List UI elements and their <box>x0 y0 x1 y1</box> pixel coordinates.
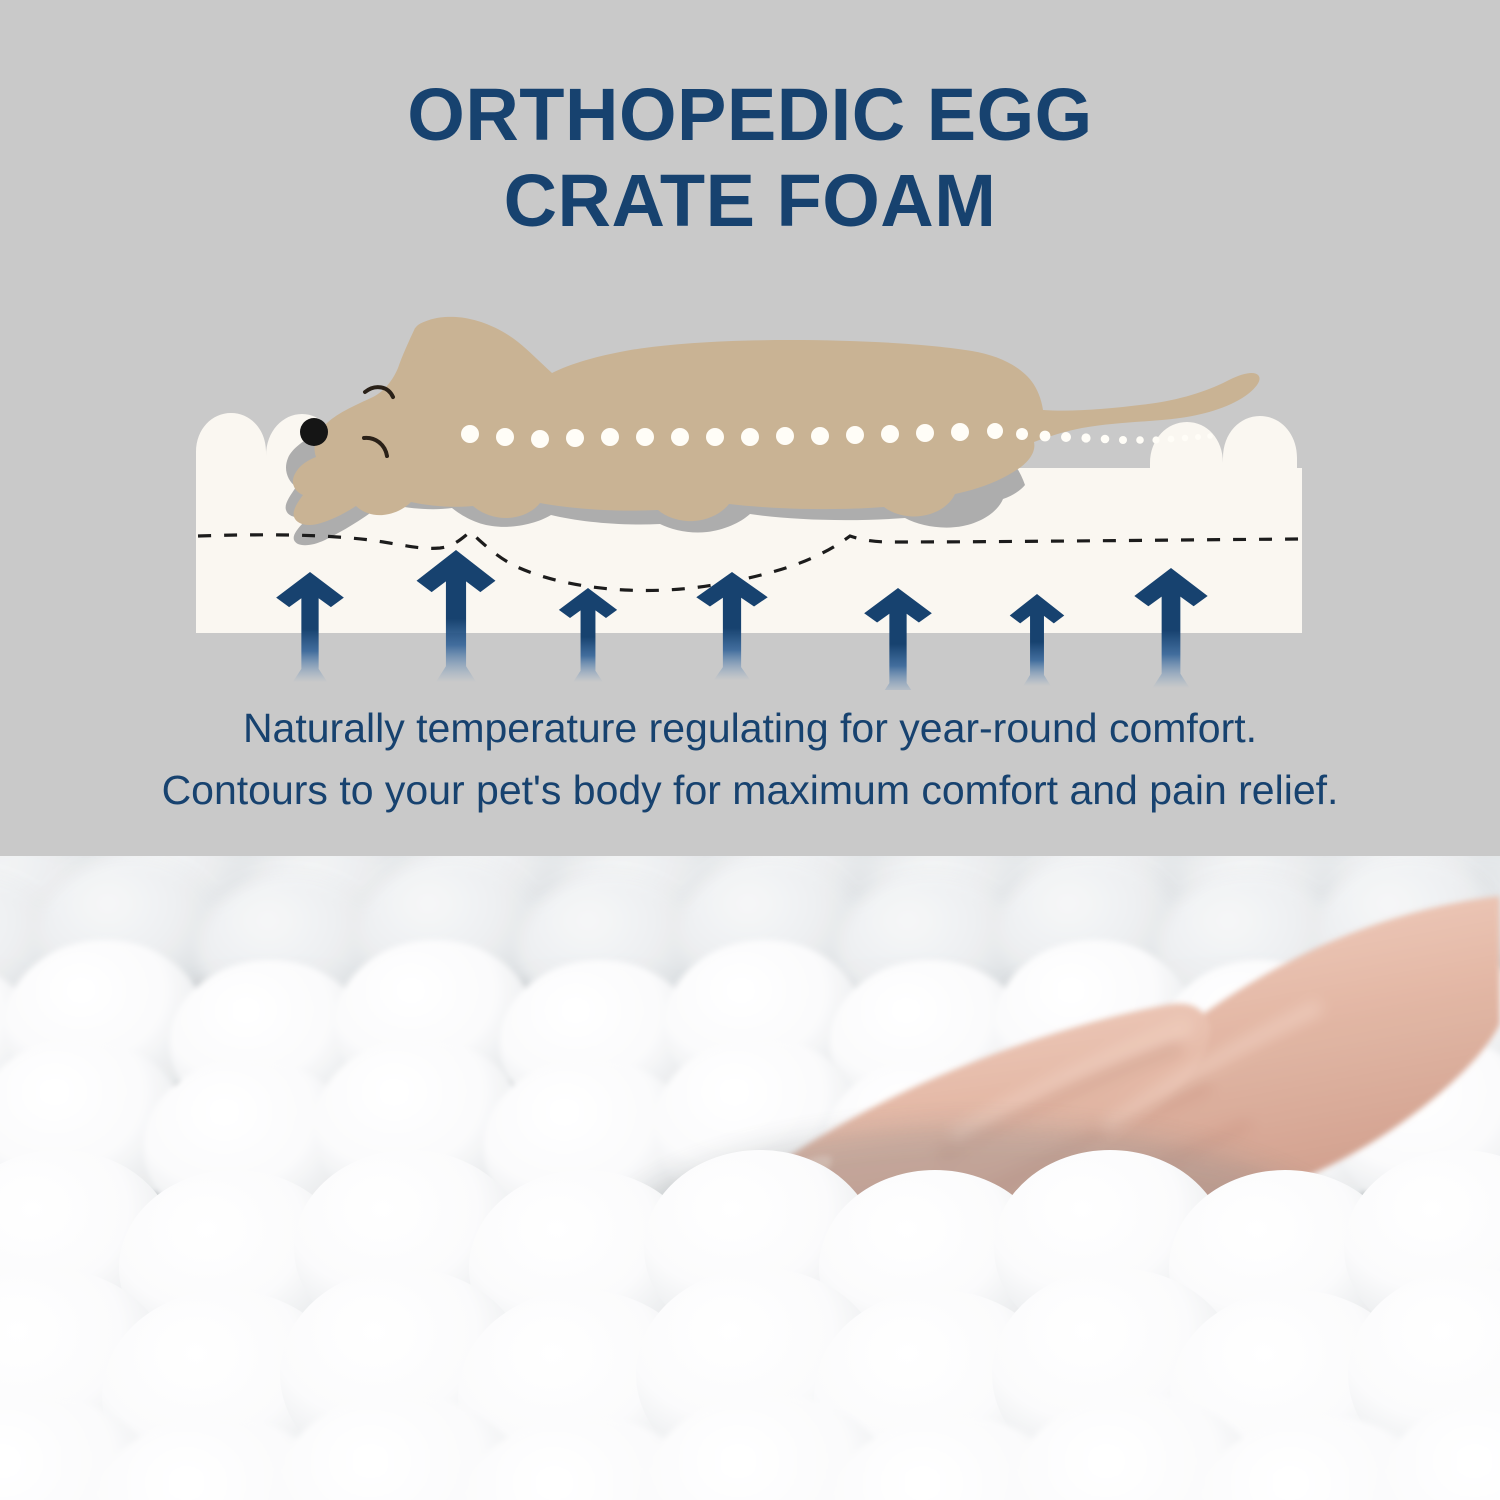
product-infographic: ORTHOPEDIC EGG CRATE FOAM <box>0 0 1500 1500</box>
foam-texture-photo <box>0 856 1500 1500</box>
headline-line-2: CRATE FOAM <box>0 158 1500 244</box>
headline-line-1: ORTHOPEDIC EGG <box>0 72 1500 158</box>
dog-nose-dot <box>300 418 328 446</box>
page-title: ORTHOPEDIC EGG CRATE FOAM <box>0 72 1500 244</box>
feature-caption: Naturally temperature regulating for yea… <box>0 697 1500 821</box>
info-panel: ORTHOPEDIC EGG CRATE FOAM <box>0 0 1500 856</box>
caption-line-2: Contours to your pet's body for maximum … <box>0 759 1500 821</box>
caption-line-1: Naturally temperature regulating for yea… <box>0 697 1500 759</box>
foam-support-illustration <box>0 300 1500 690</box>
